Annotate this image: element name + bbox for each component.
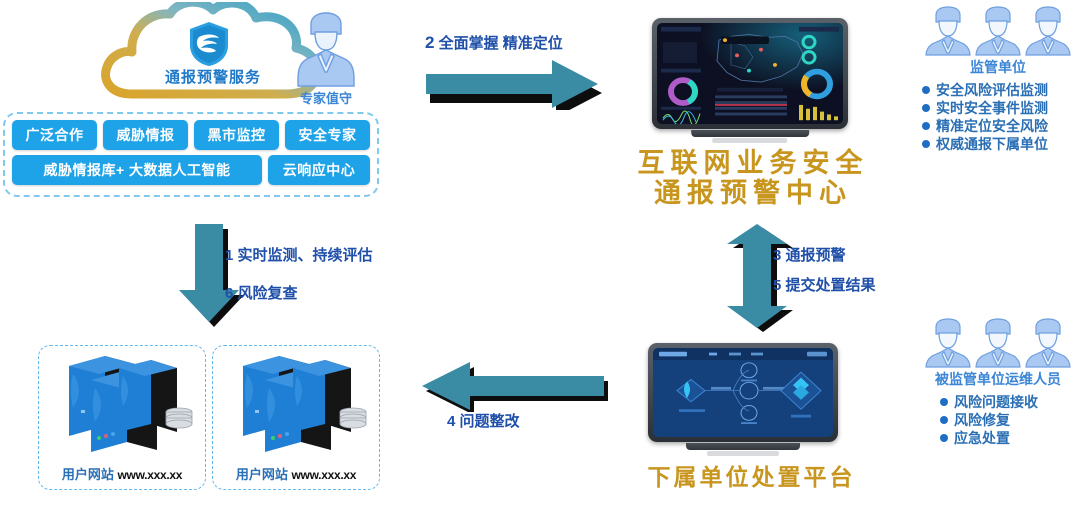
user-site-label: 用户网站 www.xxx.xx: [213, 464, 379, 483]
capability-tag[interactable]: 安全专家: [285, 120, 370, 150]
center-top-title-line2: 通报预警中心: [600, 178, 900, 208]
arrow-step-1-number: 1: [225, 247, 233, 264]
bullet-item: 安全风险评估监测: [922, 81, 1078, 99]
capability-tag[interactable]: 威胁情报库+ 大数据人工智能: [12, 155, 262, 185]
arrow-step-3-label: 3 通报预警: [773, 244, 846, 265]
arrow-step-6-label: 6 风险复查: [225, 282, 298, 303]
person-group-icon: [918, 318, 1078, 368]
bullet-dot-icon: [940, 434, 948, 442]
arrow-step-2-number: 2: [425, 33, 434, 52]
arrow-step-2-label: 2 全面掌握 精准定位: [425, 32, 563, 53]
arrow-left-icon: [412, 362, 612, 412]
bullet-item: 应急处置: [940, 429, 1078, 447]
bullet-text: 应急处置: [954, 429, 1010, 447]
bullet-item: 风险修复: [940, 411, 1078, 429]
user-site-name: 用户网站: [62, 467, 114, 482]
arrow-step-1-label: 1 实时监测、持续评估: [225, 244, 373, 265]
monitor-bezel: [648, 343, 838, 442]
arrow-step-2-text: 全面掌握 精准定位: [439, 35, 563, 52]
person-icon: [924, 6, 972, 56]
dashboard-monitor-bottom: [648, 343, 838, 456]
user-site-url: www.xxx.xx: [292, 468, 357, 482]
server-stack-icon: [51, 350, 197, 458]
user-site-label: 用户网站 www.xxx.xx: [39, 464, 205, 483]
operator-group: 被监管单位运维人员 风险问题接收 风险修复 应急处置: [918, 318, 1078, 447]
capability-row-1: 广泛合作 威胁情报 黑市监控 安全专家: [12, 120, 370, 150]
regulator-bullets: 安全风险评估监测 实时安全事件监测 精准定位安全风险 权威通报下属单位: [922, 81, 1078, 153]
monitor-bezel: [652, 18, 848, 129]
dashboard-monitor-top: [652, 18, 848, 143]
bullet-dot-icon: [922, 140, 930, 148]
capability-tag[interactable]: 黑市监控: [194, 120, 279, 150]
arrow-step-3-number: 3: [773, 247, 781, 264]
arrow-step-6-number: 6: [225, 285, 233, 302]
regulator-group: 监管单位 安全风险评估监测 实时安全事件监测 精准定位安全风险 权威通报下属单位: [918, 6, 1078, 153]
capability-tag[interactable]: 广泛合作: [12, 120, 97, 150]
operator-bullets: 风险问题接收 风险修复 应急处置: [940, 393, 1078, 447]
bullet-text: 安全风险评估监测: [936, 81, 1048, 99]
regulator-title: 监管单位: [918, 57, 1078, 77]
bullet-dot-icon: [940, 398, 948, 406]
person-icon: [924, 318, 972, 368]
capability-row-2: 威胁情报库+ 大数据人工智能 云响应中心: [12, 155, 370, 185]
bullet-text: 权威通报下属单位: [936, 135, 1048, 153]
arrow-right-icon: [418, 60, 608, 110]
bullet-text: 精准定位安全风险: [936, 117, 1048, 135]
capability-tag[interactable]: 威胁情报: [103, 120, 188, 150]
bullet-dot-icon: [922, 122, 930, 130]
person-icon: [1024, 6, 1072, 56]
capability-panel: 广泛合作 威胁情报 黑市监控 安全专家 威胁情报库+ 大数据人工智能 云响应中心: [3, 112, 379, 197]
arrow-step-6-text: 风险复查: [238, 285, 298, 302]
arrow-step-1-6: 1 实时监测、持续评估 6 风险复查: [175, 222, 415, 327]
user-site-url: www.xxx.xx: [118, 468, 183, 482]
arrow-step-5-text: 提交处置结果: [786, 277, 876, 294]
expert-label: 专家值守: [285, 88, 367, 107]
person-group-icon: [918, 6, 1078, 56]
dashboard-monitor-icon: [657, 23, 843, 124]
bullet-dot-icon: [940, 416, 948, 424]
shield-icon: [186, 20, 232, 68]
person-icon: [1024, 318, 1072, 368]
bullet-item: 风险问题接收: [940, 393, 1078, 411]
center-top-title-line1: 互联网业务安全: [600, 148, 900, 178]
monitor-screen: [653, 348, 833, 437]
bullet-text: 风险修复: [954, 411, 1010, 429]
bullet-item: 实时安全事件监测: [922, 99, 1078, 117]
bullet-item: 精准定位安全风险: [922, 117, 1078, 135]
arrow-step-4: 4 问题整改: [412, 362, 612, 442]
user-site-box: 用户网站 www.xxx.xx: [212, 345, 380, 490]
arrow-step-3-5: 3 通报预警 5 提交处置结果: [715, 222, 925, 332]
capability-tag[interactable]: 云响应中心: [268, 155, 370, 185]
center-top-title: 互联网业务安全 通报预警中心: [600, 148, 900, 208]
server-stack-icon: [225, 350, 371, 458]
arrow-step-2: 2 全面掌握 精准定位: [418, 32, 608, 110]
person-icon: [974, 318, 1022, 368]
monitor-screen: [657, 23, 843, 124]
bullet-dot-icon: [922, 104, 930, 112]
user-site-name: 用户网站: [236, 467, 288, 482]
center-bottom-title: 下属单位处置平台: [610, 458, 890, 492]
person-icon: [974, 6, 1022, 56]
arrow-step-5-label: 5 提交处置结果: [773, 274, 876, 295]
arrow-step-1-text: 实时监测、持续评估: [238, 247, 373, 264]
bullet-text: 风险问题接收: [954, 393, 1038, 411]
bullet-item: 权威通报下属单位: [922, 135, 1078, 153]
arrow-step-4-text: 问题整改: [460, 413, 520, 430]
arrow-step-4-label: 4 问题整改: [447, 410, 520, 431]
arrow-step-5-number: 5: [773, 277, 781, 294]
operator-title: 被监管单位运维人员: [918, 369, 1078, 389]
flow-monitor-icon: [653, 348, 833, 437]
monitor-stand: [691, 130, 809, 143]
bullet-dot-icon: [922, 86, 930, 94]
monitor-stand: [686, 443, 800, 456]
bullet-text: 实时安全事件监测: [936, 99, 1048, 117]
expert-on-duty: 专家值守: [291, 12, 361, 112]
arrow-down-icon: [175, 222, 265, 327]
arrow-step-4-number: 4: [447, 413, 455, 430]
arrow-step-3-text: 通报预警: [786, 247, 846, 264]
user-site-box: 用户网站 www.xxx.xx: [38, 345, 206, 490]
person-expert-icon: [291, 12, 361, 92]
